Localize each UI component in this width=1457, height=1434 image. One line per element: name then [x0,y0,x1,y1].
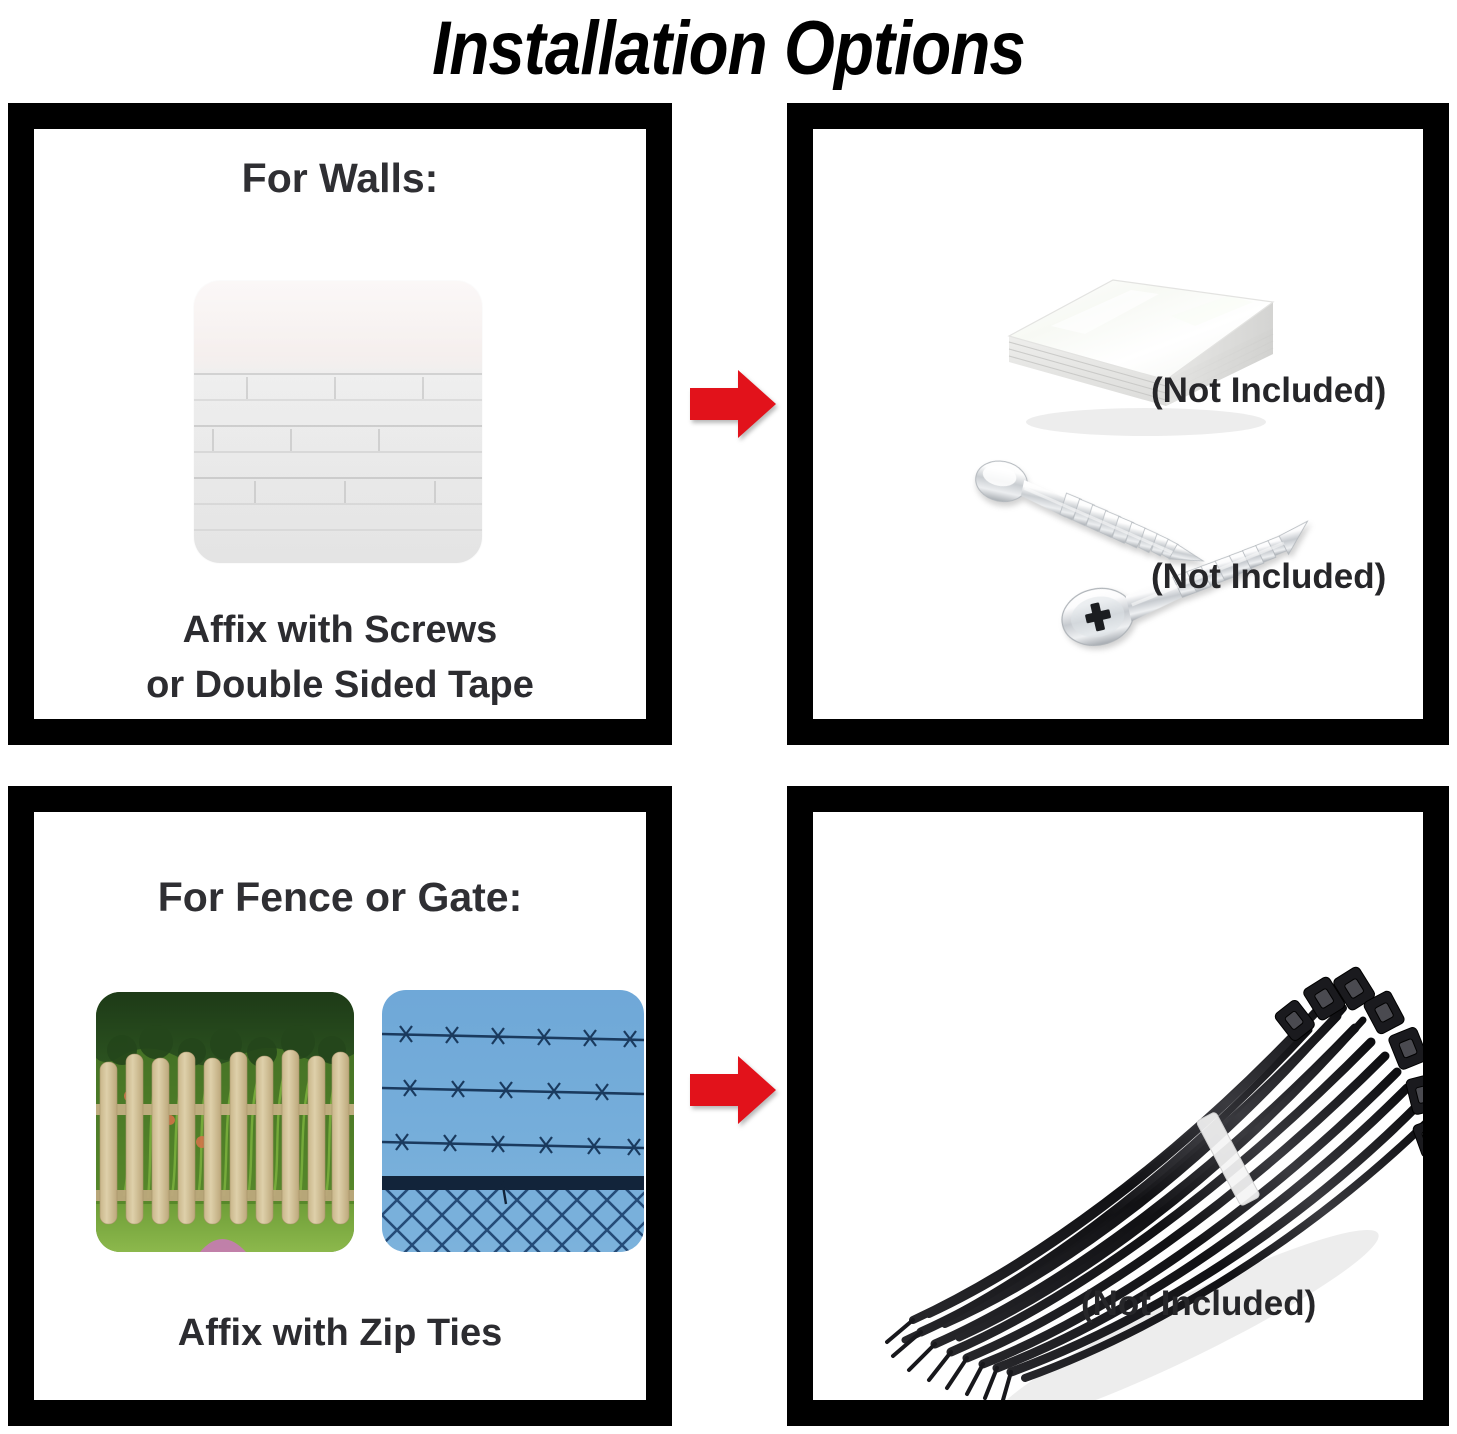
panel-for-walls-content: For Walls: Affix with Screws or Double S… [34,129,646,719]
panel-fence-hardware: (Not Included) [787,786,1449,1426]
arrow-walls-to-hardware-icon [690,368,776,440]
zipties-not-included-label: (Not Included) [1081,1284,1316,1324]
for-walls-heading: For Walls: [34,155,646,202]
panel-wall-hardware-content: (Not Included) [813,129,1423,719]
white-brick-wall-image [194,281,482,563]
barbed-wire-chain-link-fence-image [382,990,644,1252]
panel-for-fence-or-gate-content: For Fence or Gate: [34,812,646,1400]
screws-not-included-label: (Not Included) [1151,557,1386,597]
arrow-fence-to-zipties-icon [690,1054,776,1126]
wooden-picket-fence-image [96,992,354,1252]
for-fence-or-gate-heading: For Fence or Gate: [34,874,646,921]
for-walls-caption-line-1: Affix with Screws [34,609,646,652]
for-fence-caption-line-1: Affix with Zip Ties [34,1312,646,1355]
panel-for-walls: For Walls: Affix with Screws or Double S… [8,103,672,745]
panel-fence-hardware-content: (Not Included) [813,812,1423,1400]
double-sided-tape-stack-image [981,246,1291,446]
tape-not-included-label: (Not Included) [1151,371,1386,411]
panel-for-fence-or-gate: For Fence or Gate: [8,786,672,1426]
page-title: Installation Options [102,0,1355,96]
for-walls-caption-line-2: or Double Sided Tape [34,664,646,707]
panel-wall-hardware: (Not Included) [787,103,1449,745]
black-zip-ties-bundle-image [885,928,1423,1400]
